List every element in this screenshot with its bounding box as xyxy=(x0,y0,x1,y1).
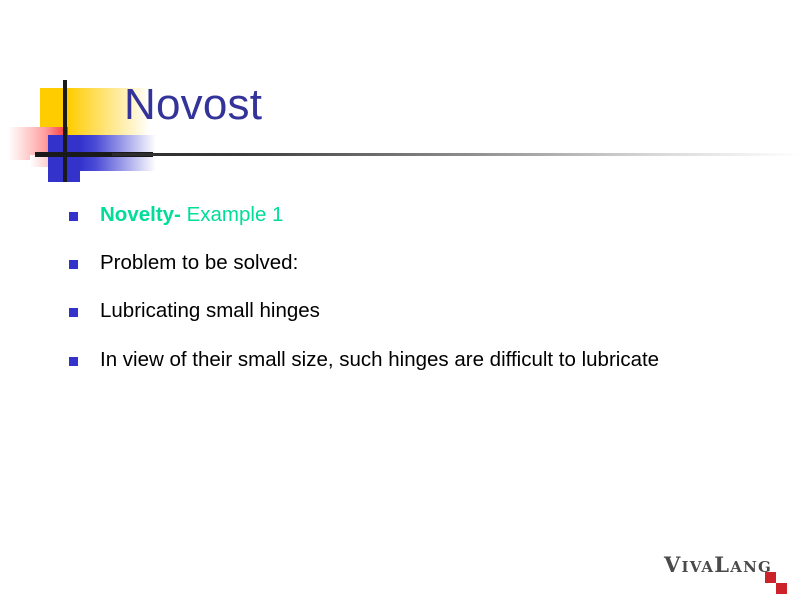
logo-wordmark: VivaLang xyxy=(664,552,772,577)
title-underline-rule xyxy=(112,153,800,156)
slide-title: Novost xyxy=(124,82,262,128)
bullet-square-icon xyxy=(69,212,78,221)
list-item-text: In view of their small size, such hinges… xyxy=(100,348,659,371)
decoration-red-lower-block xyxy=(30,155,52,167)
bullet-square-icon xyxy=(69,357,78,366)
decoration-blue-block xyxy=(48,135,80,182)
list-item-body: In view of their small size, such hinges… xyxy=(100,348,659,371)
list-item: Lubricating small hinges xyxy=(68,299,758,323)
decoration-yellow-block xyxy=(40,88,68,135)
list-item-body: Lubricating small hinges xyxy=(100,299,320,322)
list-item-text: Lubricating small hinges xyxy=(100,299,320,322)
list-item-body: Example 1 xyxy=(181,203,284,226)
slide-body-list: Novelty- Example 1 Problem to be solved:… xyxy=(68,203,758,372)
bullet-square-icon xyxy=(69,260,78,269)
list-item: In view of their small size, such hinges… xyxy=(68,348,758,372)
decoration-red-gradient-block xyxy=(8,127,68,160)
bullet-square-icon xyxy=(69,308,78,317)
logo-red-square-upper-icon xyxy=(765,572,776,583)
list-item-lead: Novelty- xyxy=(100,203,181,226)
vivalang-logo: VivaLang xyxy=(630,546,790,592)
logo-red-square-lower-icon xyxy=(776,583,787,594)
decoration-vertical-bar xyxy=(63,80,67,182)
list-item-text: Problem to be solved: xyxy=(100,251,298,274)
list-item: Problem to be solved: xyxy=(68,251,758,275)
list-item-body: Problem to be solved: xyxy=(100,251,298,274)
list-item-text: Novelty- Example 1 xyxy=(100,203,283,226)
presentation-slide: Novost Novelty- Example 1 Problem to be … xyxy=(0,0,800,600)
list-item: Novelty- Example 1 xyxy=(68,203,758,227)
